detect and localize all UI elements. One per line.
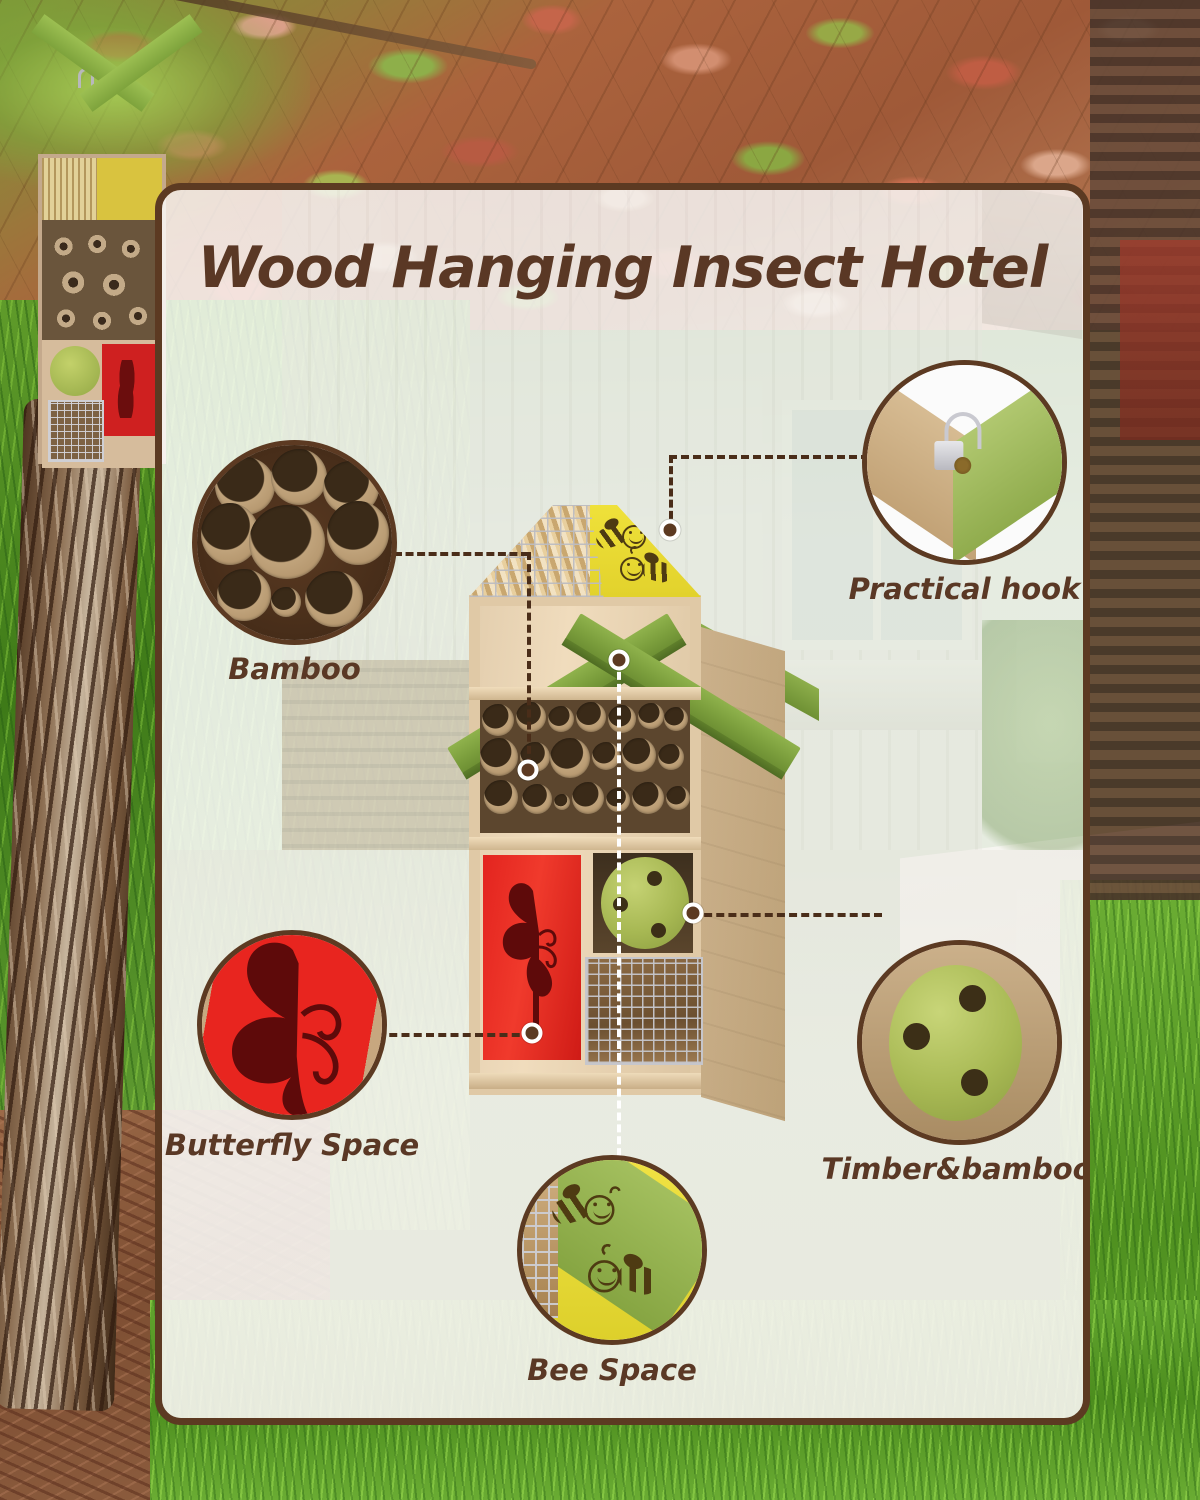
d-ring-hook-icon	[862, 360, 1067, 565]
butterfly-icon	[493, 873, 569, 1043]
callout-label-butterfly-space: Butterfly Space	[155, 1128, 432, 1162]
mesh-compartment	[585, 957, 703, 1065]
attic-triangle	[469, 505, 701, 597]
shed-bush	[982, 620, 1090, 850]
connector-timber-h	[692, 913, 882, 917]
mini-attic-section	[42, 158, 162, 220]
marker-bamboo	[518, 760, 539, 781]
connector-bamboo-v	[527, 552, 531, 766]
marker-bee	[609, 650, 630, 671]
callout-label-bamboo: Bamboo	[192, 652, 397, 686]
page-title: Wood Hanging Insect Hotel	[162, 235, 1083, 301]
house-siding-red-patch	[1120, 240, 1200, 440]
callout-label-practical-hook: Practical hook	[842, 572, 1087, 606]
mini-hotel-body	[38, 154, 166, 464]
shelf-lower	[469, 837, 701, 850]
callout-bee-space[interactable]: Bee Space	[517, 1155, 747, 1405]
hotel-base	[469, 1073, 701, 1089]
attic-section	[469, 505, 701, 597]
connector-bee-v	[617, 660, 621, 1180]
mini-butterfly-panel	[102, 344, 156, 436]
drilled-log-icon	[857, 940, 1062, 1145]
butterfly-glyph	[202, 935, 382, 1115]
connector-hook-h	[669, 455, 869, 459]
drilled-log	[601, 857, 689, 949]
callout-label-timber-bamboo: Timber&bamboo	[817, 1152, 1090, 1186]
callout-bamboo[interactable]: Bamboo	[192, 440, 422, 700]
timber-log-compartment	[593, 853, 693, 953]
callout-practical-hook[interactable]: Practical hook	[862, 360, 1090, 610]
bamboo-tubes-icon	[192, 440, 397, 645]
mini-lower-section	[42, 340, 162, 468]
marker-timber	[683, 903, 704, 924]
bamboo-tube-section	[480, 700, 690, 833]
mini-bamboo-section	[42, 220, 162, 340]
marker-butterfly	[522, 1023, 543, 1044]
marker-hook	[660, 520, 681, 541]
house-siding	[1090, 0, 1200, 900]
callout-butterfly-space[interactable]: Butterfly Space	[197, 930, 427, 1190]
callout-timber-bamboo[interactable]: Timber&bamboo	[852, 940, 1090, 1200]
bee-panel	[590, 505, 701, 597]
shelf-upper	[469, 687, 701, 700]
mini-mesh-compartment	[48, 400, 104, 462]
callout-label-bee-space: Bee Space	[487, 1353, 737, 1387]
butterfly-cutout-icon	[197, 930, 387, 1120]
mini-drilled-log	[50, 346, 100, 396]
log-shape	[889, 965, 1022, 1121]
bee-cutout-icon	[517, 1155, 707, 1345]
info-panel: Wood Hanging Insect Hotel	[155, 183, 1090, 1425]
